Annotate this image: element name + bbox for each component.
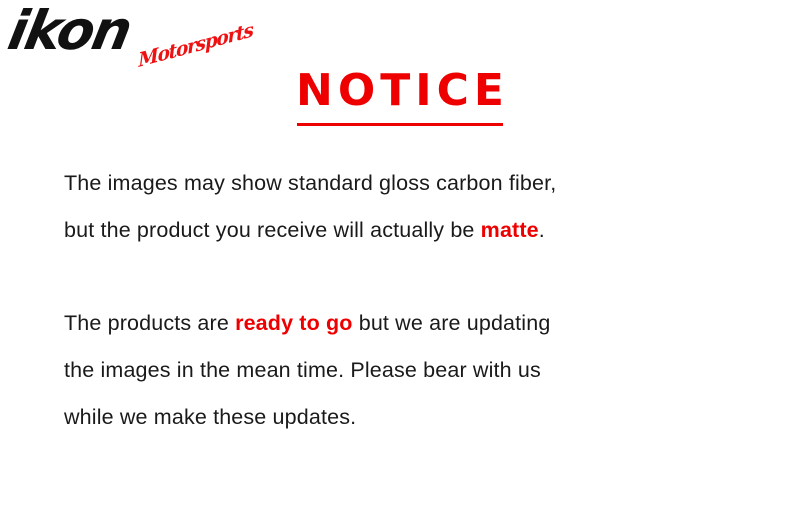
notice-line: but the product you receive will actuall…: [64, 207, 764, 254]
text-run: but we are updating: [353, 311, 551, 335]
notice-line: while we make these updates.: [64, 394, 764, 441]
brand-wordmark-ikon: ikon: [4, 4, 135, 58]
notice-paragraph-2: The products are ready to go but we are …: [64, 300, 764, 441]
text-run: .: [539, 218, 545, 242]
notice-heading-block: NOTICE: [0, 66, 800, 126]
notice-line: The images may show standard gloss carbo…: [64, 160, 764, 207]
highlighted-term: matte: [481, 218, 539, 242]
text-run: The products are: [64, 311, 235, 335]
text-run: The images may show standard gloss carbo…: [64, 171, 556, 195]
text-run: the images in the mean time. Please bear…: [64, 358, 541, 382]
notice-underline-rule: [297, 123, 503, 126]
highlighted-term: ready to go: [235, 311, 353, 335]
notice-body: The images may show standard gloss carbo…: [64, 160, 764, 441]
notice-paragraph-1: The images may show standard gloss carbo…: [64, 160, 764, 254]
text-run: while we make these updates.: [64, 405, 356, 429]
brand-script-motorsports: Motorsports: [138, 21, 253, 71]
notice-title: NOTICE: [291, 66, 509, 116]
notice-line: The products are ready to go but we are …: [64, 300, 764, 347]
text-run: but the product you receive will actuall…: [64, 218, 481, 242]
notice-line: the images in the mean time. Please bear…: [64, 347, 764, 394]
